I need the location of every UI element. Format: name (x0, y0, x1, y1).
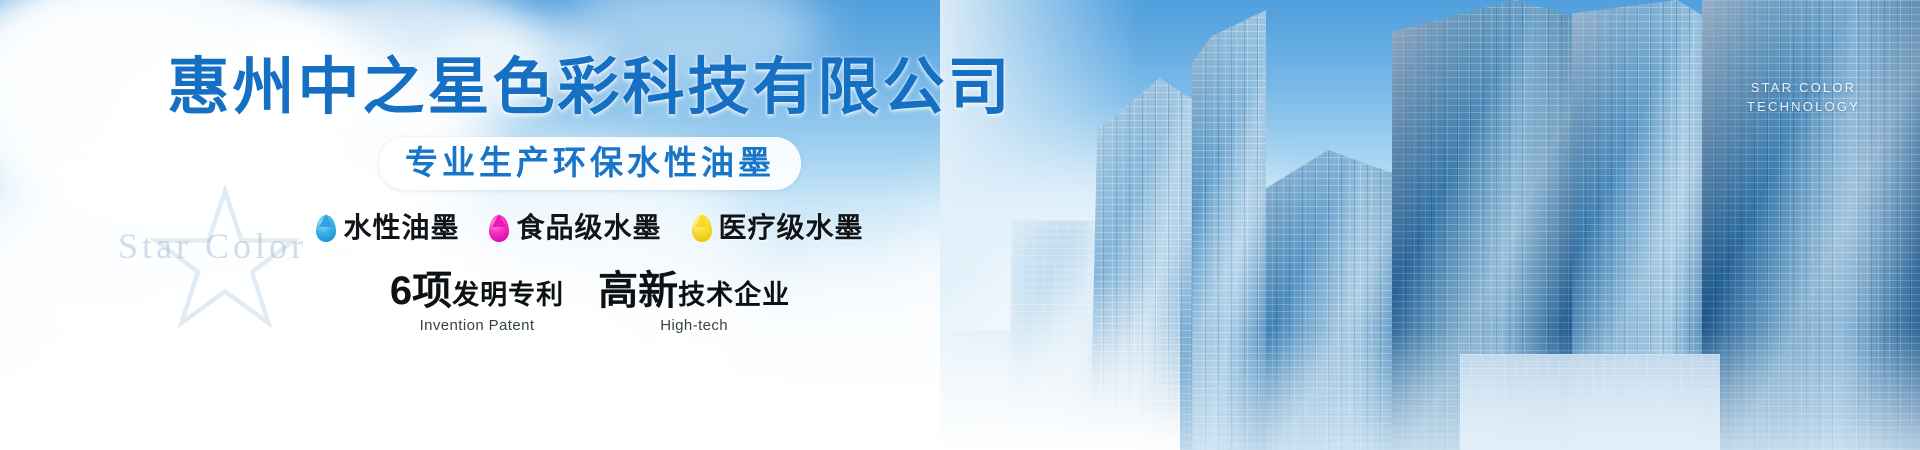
credential-badge: 高新 技术企业 High-tech (598, 270, 790, 335)
credential-badge: 6项 发明专利 Invention Patent (390, 270, 564, 335)
product-feature-list: 水性油墨 食品级水墨 医疗级水墨 (316, 213, 863, 243)
badge-detail: 技术企业 (678, 279, 790, 311)
subtitle-pill: 专业生产环保水性油墨 (379, 137, 801, 190)
feature-item: 食品级水墨 (489, 213, 661, 243)
badge-english-line: Invention Patent (420, 317, 535, 335)
watermark-right-line2: TECHNOLOGY (1747, 97, 1860, 116)
water-drop-icon (692, 215, 712, 242)
company-hero-banner: Star Color STAR COLOR TECHNOLOGY 惠州中之星色彩… (0, 0, 1920, 450)
badge-chinese-line: 高新 技术企业 (598, 270, 790, 312)
feature-label: 水性油墨 (343, 213, 459, 243)
feature-label: 医疗级水墨 (719, 213, 864, 243)
badge-detail: 发明专利 (452, 279, 564, 311)
banner-content: 惠州中之星色彩科技有限公司 专业生产环保水性油墨 水性油墨 食品级水墨 医疗级水… (0, 0, 1180, 450)
feature-label: 食品级水墨 (516, 213, 661, 243)
subtitle-text: 专业生产环保水性油墨 (405, 144, 775, 181)
water-drop-icon (489, 215, 509, 242)
badge-chinese-line: 6项 发明专利 (390, 270, 564, 312)
feature-item: 水性油墨 (316, 213, 459, 243)
feature-item: 医疗级水墨 (692, 213, 864, 243)
badge-english-line: High-tech (660, 317, 728, 335)
badge-emphasis: 6项 (390, 270, 452, 312)
watermark-right-line1: STAR COLOR (1747, 78, 1860, 97)
company-title: 惠州中之星色彩科技有限公司 (167, 57, 1012, 119)
badge-emphasis: 高新 (598, 270, 678, 312)
watermark-right: STAR COLOR TECHNOLOGY (1747, 78, 1860, 116)
credential-badge-list: 6项 发明专利 Invention Patent 高新 技术企业 High-te… (390, 270, 790, 335)
water-drop-icon (316, 215, 336, 242)
